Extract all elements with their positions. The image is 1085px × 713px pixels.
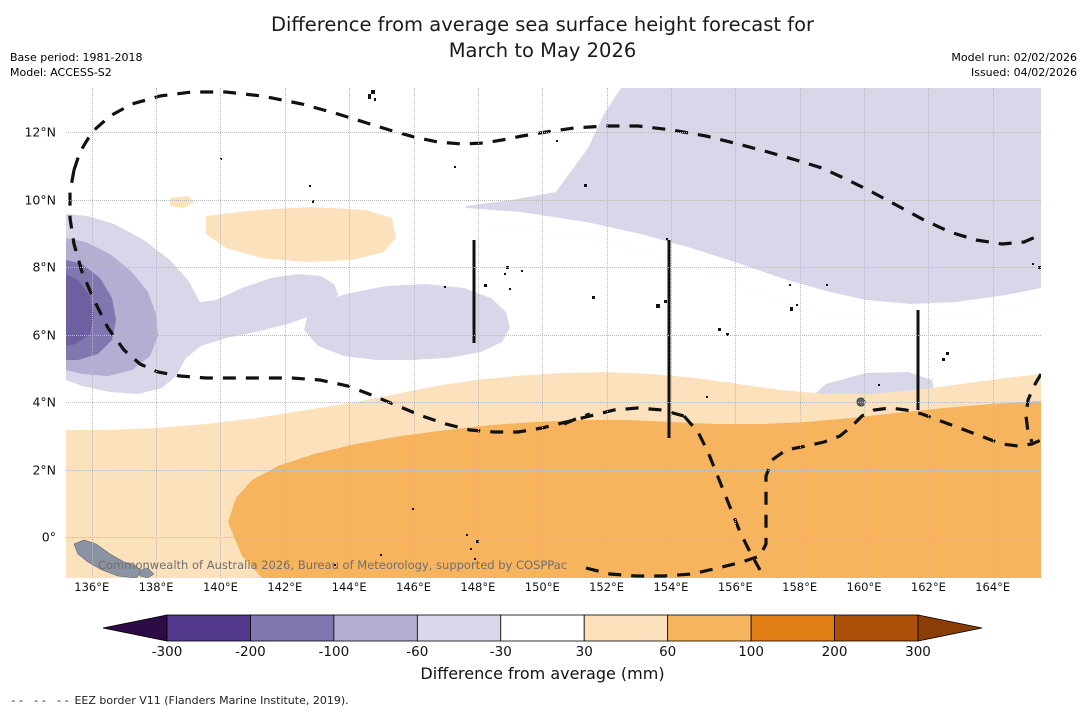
region-neg30-chip bbox=[971, 88, 1041, 98]
gridline-lat-10°N bbox=[66, 200, 1041, 201]
gridline-lon-162°E bbox=[928, 88, 929, 578]
base-period-text: Base period: 1981-2018 bbox=[10, 50, 142, 65]
gridline-lon-136°E bbox=[92, 88, 93, 578]
eez-legend-dash: -- -- -- bbox=[10, 694, 71, 707]
colorbar-tick--100: -100 bbox=[319, 644, 350, 660]
lat-tick-0°: 0° bbox=[42, 530, 56, 545]
colorbar-band-100to200 bbox=[751, 615, 834, 641]
map-contour-fill bbox=[66, 88, 1041, 578]
lon-tick-140°E: 140°E bbox=[203, 580, 238, 594]
colorbar-band--30to30 bbox=[501, 615, 584, 641]
lat-tick-10°N: 10°N bbox=[24, 192, 56, 207]
colorbar-title: Difference from average (mm) bbox=[0, 664, 1085, 683]
lon-tick-156°E: 156°E bbox=[718, 580, 753, 594]
colorbar-band--100to-60 bbox=[334, 615, 417, 641]
issued-text: Issued: 04/02/2026 bbox=[951, 65, 1077, 80]
gridline-lat-0° bbox=[66, 537, 1041, 538]
map-plot-area bbox=[66, 88, 1041, 578]
gridline-lon-140°E bbox=[220, 88, 221, 578]
region-pos30-speck bbox=[170, 196, 194, 208]
gridline-lon-144°E bbox=[349, 88, 350, 578]
colorbar-tick--200: -200 bbox=[235, 644, 266, 660]
gridline-lat-8°N bbox=[66, 267, 1041, 268]
colorbar-band-30to60 bbox=[584, 615, 667, 641]
lat-tick-4°N: 4°N bbox=[32, 395, 56, 410]
gridline-lon-160°E bbox=[864, 88, 865, 578]
lon-tick-146°E: 146°E bbox=[396, 580, 431, 594]
colorbar-tick-60: 60 bbox=[659, 644, 676, 660]
title-line-2: March to May 2026 bbox=[0, 38, 1085, 64]
latitude-axis: 0°2°N4°N6°N8°N10°N12°N bbox=[0, 88, 60, 578]
gridline-lat-2°N bbox=[66, 470, 1041, 471]
gridline-lon-152°E bbox=[607, 88, 608, 578]
eez-legend: -- -- -- EEZ border V11 (Flanders Marine… bbox=[10, 694, 349, 707]
gridline-lon-138°E bbox=[156, 88, 157, 578]
region-pos30-north-streak bbox=[206, 207, 396, 262]
gridline-lon-164°E bbox=[993, 88, 994, 578]
colorbar-tick-300: 300 bbox=[905, 644, 931, 660]
colorbar-tick-100: 100 bbox=[738, 644, 764, 660]
gridline-lon-154°E bbox=[671, 88, 672, 578]
page-title: Difference from average sea surface heig… bbox=[0, 12, 1085, 64]
colorbar-tick-200: 200 bbox=[822, 644, 848, 660]
model-text: Model: ACCESS-S2 bbox=[10, 65, 142, 80]
colorbar-tick-30: 30 bbox=[576, 644, 593, 660]
lon-tick-150°E: 150°E bbox=[525, 580, 560, 594]
lon-tick-138°E: 138°E bbox=[139, 580, 174, 594]
gridline-lon-158°E bbox=[800, 88, 801, 578]
lon-tick-164°E: 164°E bbox=[975, 580, 1010, 594]
gridline-lon-146°E bbox=[414, 88, 415, 578]
colorbar-band--60to-30 bbox=[417, 615, 500, 641]
lon-tick-136°E: 136°E bbox=[74, 580, 109, 594]
colorbar-swatches bbox=[0, 612, 1085, 646]
colorbar-band-under bbox=[103, 615, 167, 641]
lat-tick-12°N: 12°N bbox=[24, 124, 56, 139]
title-line-1: Difference from average sea surface heig… bbox=[0, 12, 1085, 38]
colorbar-band--200to-100 bbox=[250, 615, 333, 641]
metadata-right: Model run: 02/02/2026 Issued: 04/02/2026 bbox=[951, 50, 1077, 80]
gridline-lat-6°N bbox=[66, 335, 1041, 336]
lat-tick-6°N: 6°N bbox=[32, 327, 56, 342]
colorbar-band-60to100 bbox=[668, 615, 751, 641]
model-run-text: Model run: 02/02/2026 bbox=[951, 50, 1077, 65]
gridline-lon-156°E bbox=[735, 88, 736, 578]
lon-tick-152°E: 152°E bbox=[589, 580, 624, 594]
colorbar-band--300to-200 bbox=[167, 615, 250, 641]
lon-tick-144°E: 144°E bbox=[332, 580, 367, 594]
colorbar-band-over bbox=[918, 615, 982, 641]
eez-legend-label: EEZ border V11 (Flanders Marine Institut… bbox=[74, 694, 348, 707]
gridline-lat-12°N bbox=[66, 132, 1041, 133]
gridline-lon-142°E bbox=[285, 88, 286, 578]
lon-tick-148°E: 148°E bbox=[460, 580, 495, 594]
colorbar-tick--30: -30 bbox=[490, 644, 512, 660]
lon-tick-154°E: 154°E bbox=[653, 580, 688, 594]
gridline-lat-4°N bbox=[66, 402, 1041, 403]
lon-tick-162°E: 162°E bbox=[911, 580, 946, 594]
lon-tick-160°E: 160°E bbox=[847, 580, 882, 594]
colorbar-tick--60: -60 bbox=[406, 644, 428, 660]
metadata-left: Base period: 1981-2018 Model: ACCESS-S2 bbox=[10, 50, 142, 80]
lat-tick-8°N: 8°N bbox=[32, 260, 56, 275]
lat-tick-2°N: 2°N bbox=[32, 462, 56, 477]
gridline-lon-148°E bbox=[478, 88, 479, 578]
colorbar-tick--300: -300 bbox=[152, 644, 183, 660]
map-attribution: Commonwealth of Australia 2026, Bureau o… bbox=[98, 558, 567, 572]
colorbar: Difference from average (mm) -300-200-10… bbox=[0, 612, 1085, 672]
lon-tick-142°E: 142°E bbox=[267, 580, 302, 594]
colorbar-band-200to300 bbox=[835, 615, 918, 641]
longitude-axis: 136°E138°E140°E142°E144°E146°E148°E150°E… bbox=[66, 580, 1041, 602]
gridline-lon-150°E bbox=[542, 88, 543, 578]
lon-tick-158°E: 158°E bbox=[782, 580, 817, 594]
